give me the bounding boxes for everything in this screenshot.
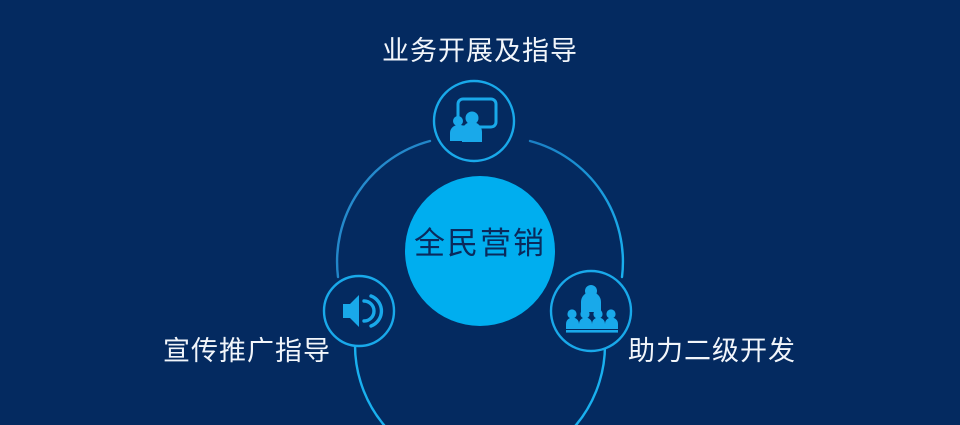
node-label-right: 助力二级开发 [628,338,796,365]
node-label-top: 业务开展及指导 [0,38,960,65]
ring-arc-bottom [355,345,605,425]
node-top[interactable] [434,81,514,161]
node-right[interactable] [551,271,631,351]
node-left[interactable] [324,276,394,346]
diagram-canvas: 全民营销 业务开展及指导 宣传推广指导 助力二级开发 [0,0,960,425]
center-label: 全民营销 [400,228,560,259]
node-label-left: 宣传推广指导 [163,338,331,365]
